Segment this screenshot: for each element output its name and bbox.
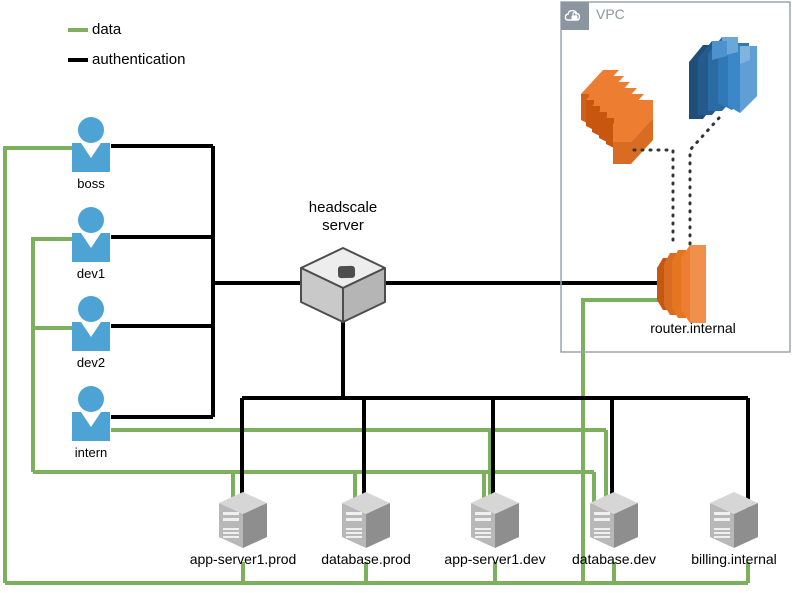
cube-icon[interactable] (301, 248, 385, 322)
server-label-database-prod: database.prod (303, 551, 429, 567)
headscale-label-line1: headscale (283, 199, 403, 217)
user-icon-boss[interactable] (72, 117, 110, 172)
server-icons (219, 492, 758, 548)
user-label-dev1: dev1 (41, 266, 141, 281)
rds-instances-icon[interactable] (689, 37, 757, 119)
connection-lines (0, 0, 792, 593)
legend-swatches (68, 30, 88, 60)
server-label-database-dev: database.dev (554, 551, 674, 567)
user-label-intern: intern (41, 445, 141, 460)
server-label-app-server1-dev: app-server1.dev (429, 551, 561, 567)
legend-label-authentication: authentication (92, 51, 185, 68)
server-label-app-server1-prod: app-server1.prod (173, 551, 313, 567)
diagram-canvas: data authentication boss dev1 dev2 inter… (0, 0, 792, 593)
vpc-link-rds-router (690, 118, 719, 245)
headscale-label-line2: server (283, 217, 403, 235)
router-label: router.internal (603, 320, 783, 336)
server-label-billing-internal: billing.internal (670, 551, 792, 567)
vpc-link-ec2-router (634, 150, 673, 245)
router-icon[interactable] (657, 245, 706, 323)
user-label-boss: boss (41, 176, 141, 191)
server-icon-billing-internal[interactable] (710, 492, 758, 548)
legend-label-data: data (92, 21, 121, 38)
server-icon-app-server1-dev[interactable] (471, 492, 519, 548)
server-icon-database-prod[interactable] (342, 492, 390, 548)
server-icon-database-dev[interactable] (590, 492, 638, 548)
user-icon-dev1[interactable] (72, 207, 110, 262)
user-label-dev2: dev2 (41, 355, 141, 370)
vpc-title: VPC (596, 6, 625, 22)
user-icon-intern[interactable] (72, 386, 110, 441)
server-icon-app-server1-prod[interactable] (219, 492, 267, 548)
user-icon-dev2[interactable] (72, 296, 110, 351)
